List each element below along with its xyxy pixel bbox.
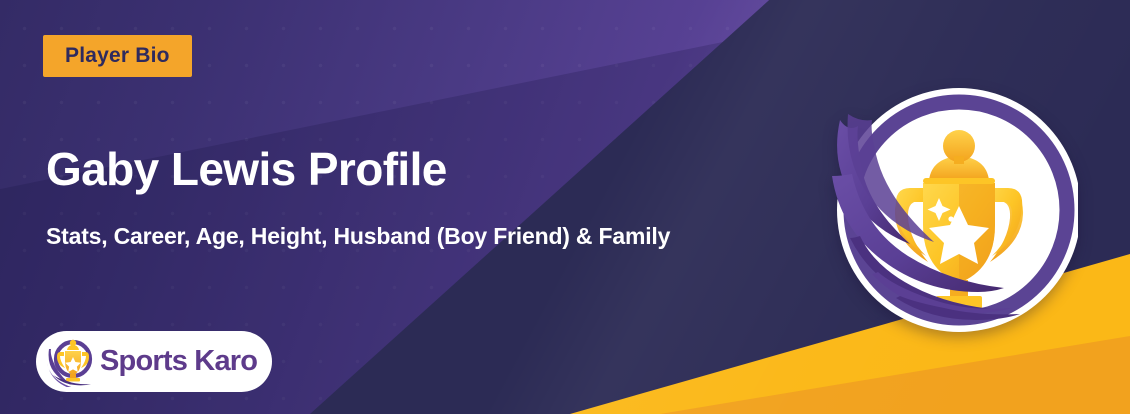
sports-karo-logo-icon [46,337,96,387]
page-subtitle: Stats, Career, Age, Height, Husband (Boy… [46,224,670,249]
sports-karo-logo-text: Sports Karo [100,345,257,378]
player-bio-badge: Player Bio [43,35,192,77]
sports-karo-logo[interactable]: Sports Karo [36,331,272,392]
player-bio-banner: Player Bio Gaby Lewis Profile Stats, Car… [0,0,1130,414]
orange-diagonal-wedge [660,336,1130,414]
trophy-wing-emblem [826,88,1078,334]
page-title: Gaby Lewis Profile [46,145,447,193]
